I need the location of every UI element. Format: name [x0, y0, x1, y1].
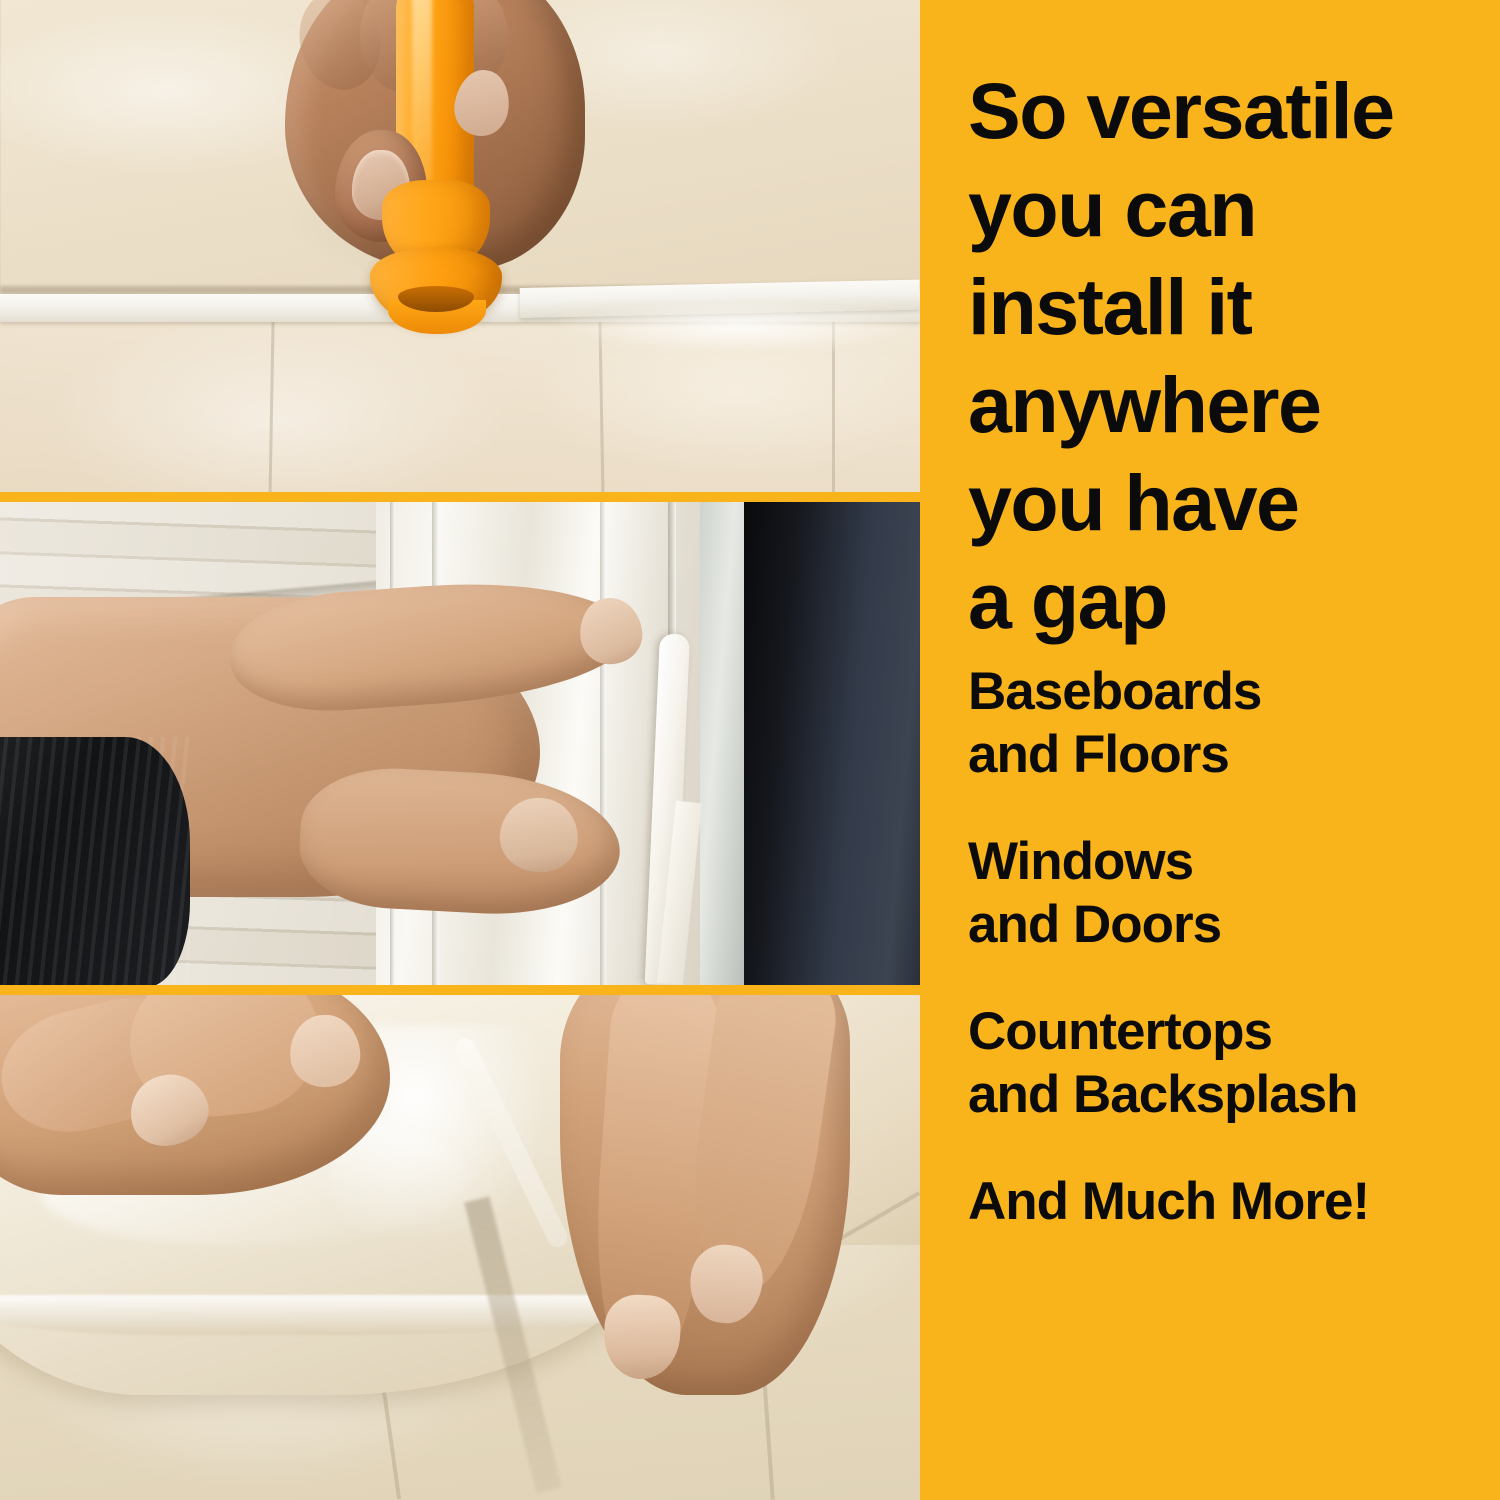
list-item-line-2: and Doors: [968, 893, 1498, 956]
list-item-line-1: Windows: [968, 830, 1498, 893]
photo-caulk-strip-on-tub-rim: [0, 995, 920, 1500]
headline-line-5: you have: [968, 454, 1488, 552]
product-feature-graphic: So versatile you can install it anywhere…: [0, 0, 1500, 1500]
list-item-line-1: Baseboards: [968, 660, 1498, 723]
headline-line-1: So versatile: [968, 62, 1488, 160]
headline: So versatile you can install it anywhere…: [968, 62, 1488, 650]
door-gap: [744, 502, 920, 985]
headline-line-6: a gap: [968, 552, 1488, 650]
photo-divider: [0, 985, 920, 995]
list-item-windows: Windows and Doors: [968, 830, 1498, 956]
list-item-baseboards: Baseboards and Floors: [968, 660, 1498, 786]
list-item-line-1: Countertops: [968, 1000, 1498, 1063]
headline-line-4: anywhere: [968, 356, 1488, 454]
list-item-line-2: and Backsplash: [968, 1063, 1498, 1126]
jamb-groove: [600, 502, 606, 985]
list-item-and-much-more: And Much More!: [968, 1170, 1498, 1233]
list-item-countertops: Countertops and Backsplash: [968, 1000, 1498, 1126]
photo-caulk-strip-on-door-jamb: [0, 502, 920, 985]
photo-column: [0, 0, 920, 1500]
headline-line-3: install it: [968, 258, 1488, 356]
headline-line-2: you can: [968, 160, 1488, 258]
use-case-list: Baseboards and Floors Windows and Doors …: [968, 660, 1498, 1277]
photo-caulk-tool-on-tile-joint: [0, 0, 920, 492]
surface-highlight: [560, 300, 920, 352]
list-item-line-1: And Much More!: [968, 1170, 1498, 1233]
sleeve-cuff: [0, 737, 190, 985]
list-item-line-2: and Floors: [968, 723, 1498, 786]
text-panel: So versatile you can install it anywhere…: [920, 0, 1500, 1500]
door-stop: [700, 502, 746, 985]
photo-divider: [0, 492, 920, 502]
